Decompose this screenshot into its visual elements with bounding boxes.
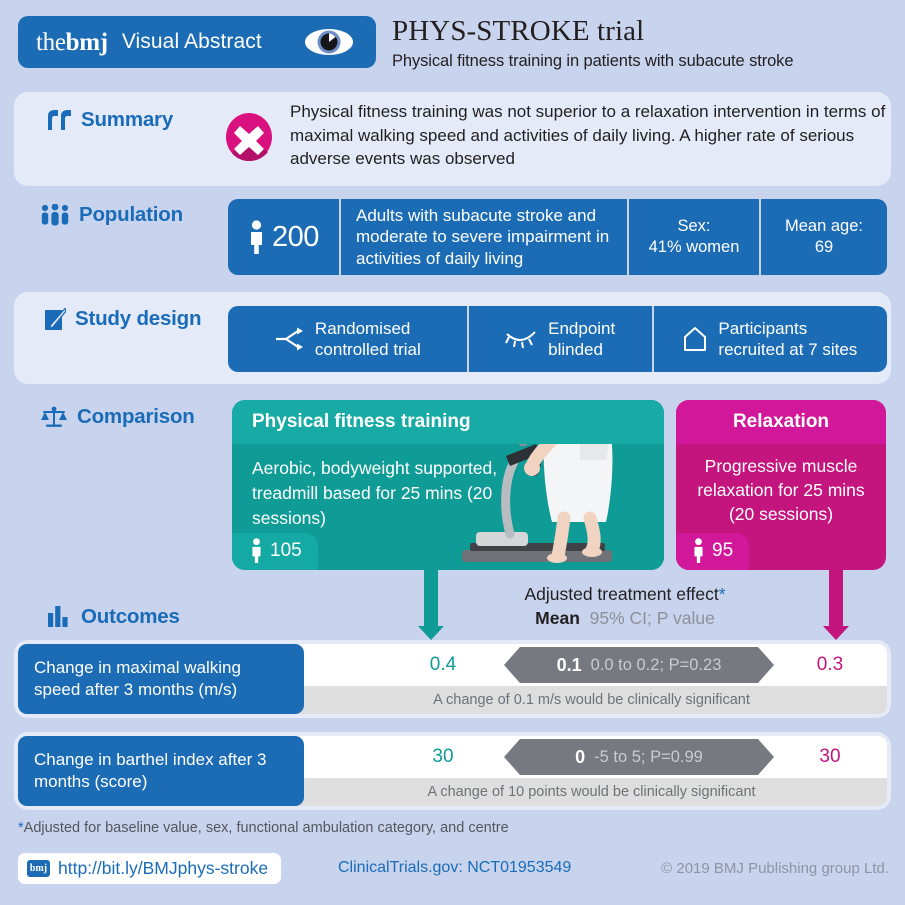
section-label-outcomes: Outcomes bbox=[48, 605, 180, 629]
outcome-2-intervention-value: 30 bbox=[398, 736, 488, 778]
outcome-1-control-value: 0.3 bbox=[785, 644, 875, 686]
design-item-randomised: Randomised controlled trial bbox=[228, 306, 469, 372]
control-count-badge: 95 bbox=[676, 533, 749, 570]
population-sex-label: Sex: bbox=[649, 216, 740, 237]
outcome-row: A change of 0.1 m/s would be clinically … bbox=[18, 644, 887, 714]
visual-abstract-label: Visual Abstract bbox=[122, 30, 262, 54]
arrow-control-head bbox=[823, 626, 849, 640]
outcome-1-label: Change in maximal walking speed after 3 … bbox=[18, 644, 304, 714]
adjusted-effect-heading: Adjusted treatment effect* Mean 95% CI; … bbox=[455, 583, 795, 629]
effect-mean-label: Mean bbox=[535, 608, 580, 628]
footnote-text: Adjusted for baseline value, sex, functi… bbox=[24, 820, 509, 836]
population-description: Adults with subacute stroke and moderate… bbox=[341, 199, 629, 275]
bmj-mini-logo-icon: bmj bbox=[27, 860, 50, 877]
outcome-2-ci: -5 to 5; P=0.99 bbox=[594, 748, 703, 767]
population-age: Mean age: 69 bbox=[761, 199, 887, 275]
design-item-blinded-line1: Endpoint bbox=[548, 318, 615, 339]
bar-chart-icon bbox=[48, 606, 72, 628]
section-label-study-design: Study design bbox=[44, 307, 201, 331]
outcome-1-note-strip: A change of 0.1 m/s would be clinically … bbox=[296, 686, 887, 714]
outcome-1-effect-hexagon: 0.1 0.0 to 0.2; P=0.23 bbox=[504, 647, 774, 683]
section-label-population-text: Population bbox=[79, 203, 183, 227]
people-icon bbox=[40, 204, 70, 226]
outcome-2-note-strip: A change of 10 points would be clinicall… bbox=[296, 778, 887, 806]
footnote: *Adjusted for baseline value, sex, funct… bbox=[18, 820, 509, 836]
pencil-note-icon bbox=[44, 308, 66, 331]
outcome-2-control-value: 30 bbox=[785, 736, 875, 778]
short-url-link[interactable]: bmj http://bit.ly/BMJphys-stroke bbox=[18, 853, 281, 884]
person-icon bbox=[692, 538, 705, 563]
outcome-2-effect-hexagon: 0 -5 to 5; P=0.99 bbox=[504, 739, 774, 775]
design-item-sites-line2: recruited at 7 sites bbox=[718, 339, 857, 360]
control-title: Relaxation bbox=[676, 400, 886, 444]
outcome-1-mean: 0.1 bbox=[557, 655, 582, 676]
scales-icon bbox=[40, 406, 68, 428]
section-label-summary: Summary bbox=[48, 108, 173, 132]
arrow-intervention-head bbox=[418, 626, 444, 640]
outcome-2-label: Change in barthel index after 3 months (… bbox=[18, 736, 304, 806]
design-item-sites-line1: Participants bbox=[718, 318, 857, 339]
intervention-count: 105 bbox=[270, 540, 302, 562]
eye-icon bbox=[304, 26, 354, 58]
outcome-1-note: A change of 0.1 m/s would be clinically … bbox=[433, 692, 750, 708]
population-row: 200 Adults with subacute stroke and mode… bbox=[228, 199, 887, 275]
control-count: 95 bbox=[712, 540, 733, 562]
outcome-2-mean: 0 bbox=[575, 747, 585, 768]
population-count-cell: 200 bbox=[228, 199, 341, 275]
arrow-intervention-stem bbox=[424, 578, 438, 630]
person-icon bbox=[250, 538, 263, 563]
section-label-comparison-text: Comparison bbox=[77, 405, 195, 429]
person-icon bbox=[248, 220, 265, 254]
visual-abstract-page: thebmj Visual Abstract PHYS-STROKE trial… bbox=[0, 0, 905, 905]
house-icon bbox=[683, 326, 707, 352]
copyright-text: © 2019 BMJ Publishing group Ltd. bbox=[661, 860, 889, 877]
closed-eye-icon bbox=[505, 328, 537, 350]
comparison-card-intervention: Physical fitness training Aerobic, bodyw… bbox=[232, 400, 664, 570]
population-age-value: 69 bbox=[785, 237, 863, 258]
bmj-masthead: thebmj Visual Abstract bbox=[18, 16, 376, 68]
design-item-blinded: Endpoint blinded bbox=[469, 306, 654, 372]
study-design-row: Randomised controlled trial Endpoint bli… bbox=[228, 306, 887, 372]
section-label-outcomes-text: Outcomes bbox=[81, 605, 180, 629]
population-sex-value: 41% women bbox=[649, 237, 740, 258]
section-label-population: Population bbox=[40, 203, 183, 227]
intervention-count-badge: 105 bbox=[232, 533, 318, 570]
arrow-control-stem bbox=[829, 578, 843, 630]
outcome-1-ci: 0.0 to 0.2; P=0.23 bbox=[591, 656, 722, 675]
randomise-icon bbox=[274, 326, 304, 352]
outcome-2-note: A change of 10 points would be clinicall… bbox=[427, 784, 755, 800]
section-label-comparison: Comparison bbox=[40, 405, 195, 429]
outcome-row: A change of 10 points would be clinicall… bbox=[18, 736, 887, 806]
design-item-blinded-line2: blinded bbox=[548, 339, 615, 360]
page-subtitle: Physical fitness training in patients wi… bbox=[392, 52, 895, 71]
population-sex: Sex: 41% women bbox=[629, 199, 761, 275]
intervention-description: Aerobic, bodyweight supported, treadmill… bbox=[232, 444, 552, 531]
cross-circle-icon bbox=[224, 112, 274, 162]
intervention-title: Physical fitness training bbox=[232, 400, 664, 444]
bmj-logo-bold: bmj bbox=[66, 29, 108, 56]
short-url-text: http://bit.ly/BMJphys-stroke bbox=[58, 858, 268, 879]
section-label-summary-text: Summary bbox=[81, 108, 173, 132]
outcome-1-intervention-value: 0.4 bbox=[398, 644, 488, 686]
title-block: PHYS-STROKE trial Physical fitness train… bbox=[392, 16, 895, 71]
page-title: PHYS-STROKE trial bbox=[392, 16, 895, 47]
design-item-sites: Participants recruited at 7 sites bbox=[654, 306, 887, 372]
effect-ci-label: 95% CI; P value bbox=[590, 608, 715, 628]
clinicaltrials-registry-link[interactable]: ClinicalTrials.gov: NCT01953549 bbox=[338, 859, 571, 877]
control-description: Progressive muscle relaxation for 25 min… bbox=[676, 444, 886, 527]
design-item-randomised-line2: controlled trial bbox=[315, 339, 421, 360]
summary-text: Physical fitness training was not superi… bbox=[290, 100, 890, 171]
quote-icon bbox=[48, 110, 72, 130]
population-count: 200 bbox=[272, 221, 319, 254]
comparison-card-control: Relaxation Progressive muscle relaxation… bbox=[676, 400, 886, 570]
adjusted-effect-asterisk: * bbox=[719, 584, 726, 604]
adjusted-effect-title: Adjusted treatment effect bbox=[524, 584, 718, 604]
bmj-logo: thebmj bbox=[36, 30, 108, 55]
population-age-label: Mean age: bbox=[785, 216, 863, 237]
design-item-randomised-line1: Randomised bbox=[315, 318, 421, 339]
section-label-study-design-text: Study design bbox=[75, 307, 201, 331]
